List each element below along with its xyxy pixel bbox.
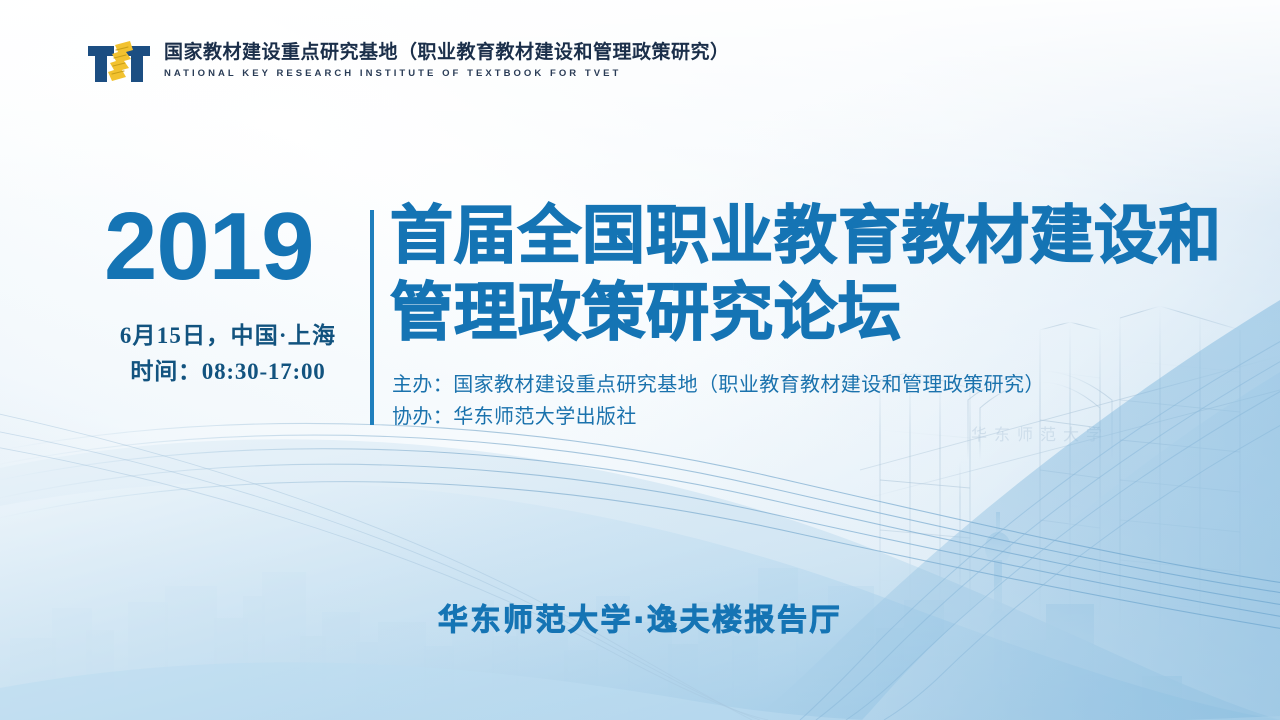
organizer-host: 主办：国家教材建设重点研究基地（职业教育教材建设和管理政策研究） [392, 368, 1045, 400]
event-title-line-2: 管理政策研究论坛 [390, 275, 1222, 352]
event-time: 时间：08:30-17:00 [104, 354, 352, 390]
event-venue: 华东师范大学·逸夫楼报告厅 [0, 606, 1280, 636]
event-date-block: 6月15日，中国·上海 时间：08:30-17:00 [104, 318, 352, 389]
organizers-block: 主办：国家教材建设重点研究基地（职业教育教材建设和管理政策研究） 协办：华东师范… [392, 368, 1045, 433]
event-year: 2019 [104, 199, 314, 295]
organizer-co-host: 协办：华东师范大学出版社 [392, 400, 1045, 432]
event-title-line-1: 首届全国职业教育教材建设和 [390, 198, 1222, 275]
event-title: 首届全国职业教育教材建设和 管理政策研究论坛 [390, 198, 1222, 352]
conference-poster: 华东师范大学 [0, 0, 1280, 720]
event-date: 6月15日，中国·上海 [104, 318, 352, 354]
vertical-divider [370, 210, 374, 425]
